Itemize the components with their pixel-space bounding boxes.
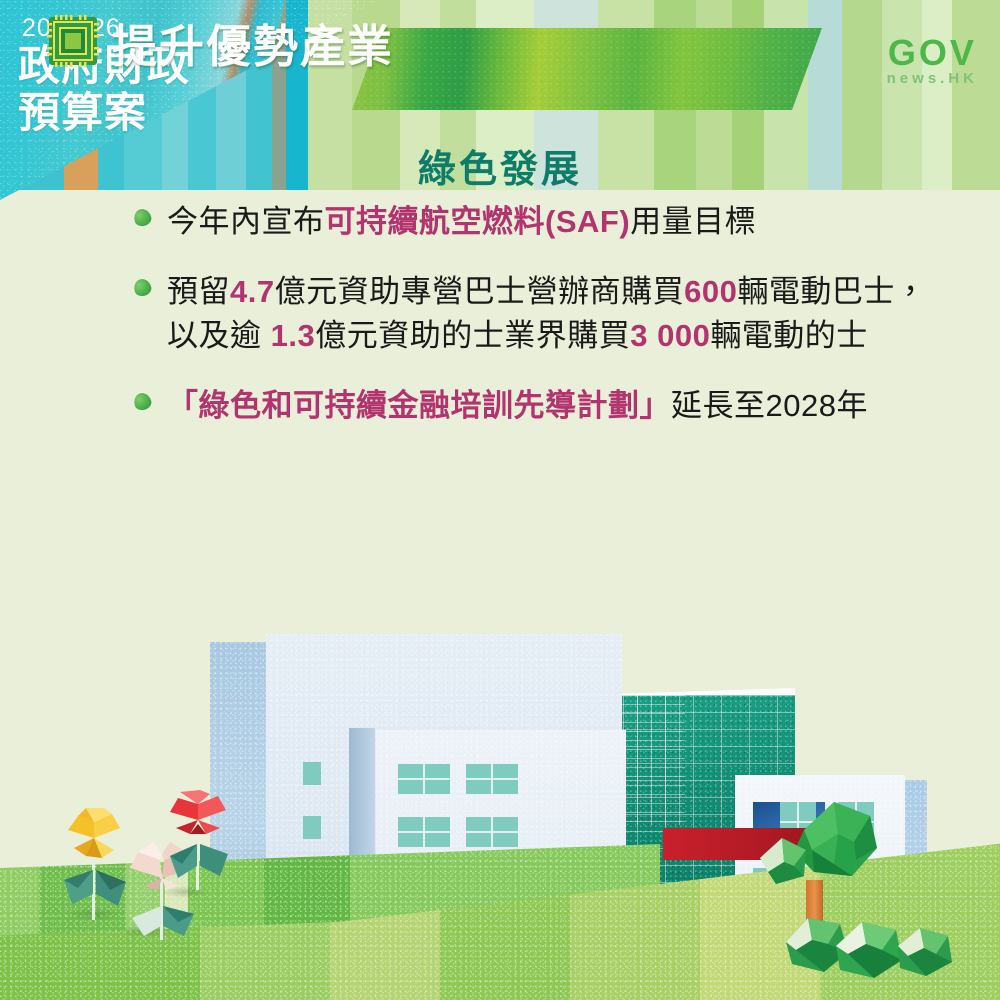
red-flower xyxy=(148,790,252,890)
front-window xyxy=(398,817,450,847)
highlighted-term: 「綠色和可持續金融培訓先導計劃」 xyxy=(167,388,671,423)
section-banner xyxy=(352,28,822,110)
side-window xyxy=(303,762,321,785)
bullet-item-electric-bus-taxi-funding: 預留4.7億元資助專營巴士營辦商購買600輛電動巴士，以及逾 1.3億元資助的士… xyxy=(134,270,954,358)
plain-text: 延長至2028年 xyxy=(671,388,868,423)
budget-title-line2: 預算案 xyxy=(18,89,190,136)
highlighted-term: 3 000 xyxy=(630,318,710,353)
bullet-item-green-finance-training-pilot: 「綠色和可持續金融培訓先導計劃」延長至2028年 xyxy=(134,384,954,428)
banner-texture xyxy=(352,28,822,110)
logo-gov-text: GOV xyxy=(887,36,978,70)
bullet-text: 預留4.7億元資助專營巴士營辦商購買600輛電動巴士，以及逾 1.3億元資助的士… xyxy=(167,270,954,358)
front-window xyxy=(466,817,518,847)
highlighted-term: 可持續航空燃料(SAF) xyxy=(325,204,631,239)
plain-text: 用量目標 xyxy=(630,204,756,239)
chip-square-icon xyxy=(46,14,100,68)
leaf-bullet-icon xyxy=(132,391,153,412)
infographic-poster: 2025-26 政府財政 預算案 xyxy=(0,0,1000,1000)
side-window xyxy=(303,816,321,839)
low-poly-bushes xyxy=(778,880,968,985)
highlighted-term: 600 xyxy=(684,274,737,309)
govhk-logo: GOV news.HK xyxy=(887,36,978,87)
illustration-scene xyxy=(0,590,1000,1000)
front-window xyxy=(466,764,518,794)
leaf-bullet-icon xyxy=(132,277,153,298)
bullet-text: 「綠色和可持續金融培訓先導計劃」延長至2028年 xyxy=(167,384,954,428)
bullet-list: 今年內宣布可持續航空燃料(SAF)用量目標預留4.7億元資助專營巴士營辦商購買6… xyxy=(134,200,954,454)
section-subtitle: 綠色發展 xyxy=(0,138,1000,193)
plain-text: 輛電動的士 xyxy=(710,318,868,353)
highlighted-term: 1.3 xyxy=(271,318,316,353)
banner-title: 提升優勢產業 xyxy=(112,10,394,75)
front-window xyxy=(398,764,450,794)
plain-text: 今年內宣布 xyxy=(167,204,325,239)
plain-text: 億元資助專營巴士營辦商購買 xyxy=(275,274,685,309)
bullet-text: 今年內宣布可持續航空燃料(SAF)用量目標 xyxy=(167,200,954,244)
bullet-item-saf-target: 今年內宣布可持續航空燃料(SAF)用量目標 xyxy=(134,200,954,244)
plain-text: 億元資助的士業界購買 xyxy=(315,318,630,353)
leaf-bullet-icon xyxy=(132,207,153,228)
logo-newshk-text: news.HK xyxy=(887,70,978,87)
plain-text: 預留 xyxy=(167,274,230,309)
highlighted-term: 4.7 xyxy=(230,274,275,309)
